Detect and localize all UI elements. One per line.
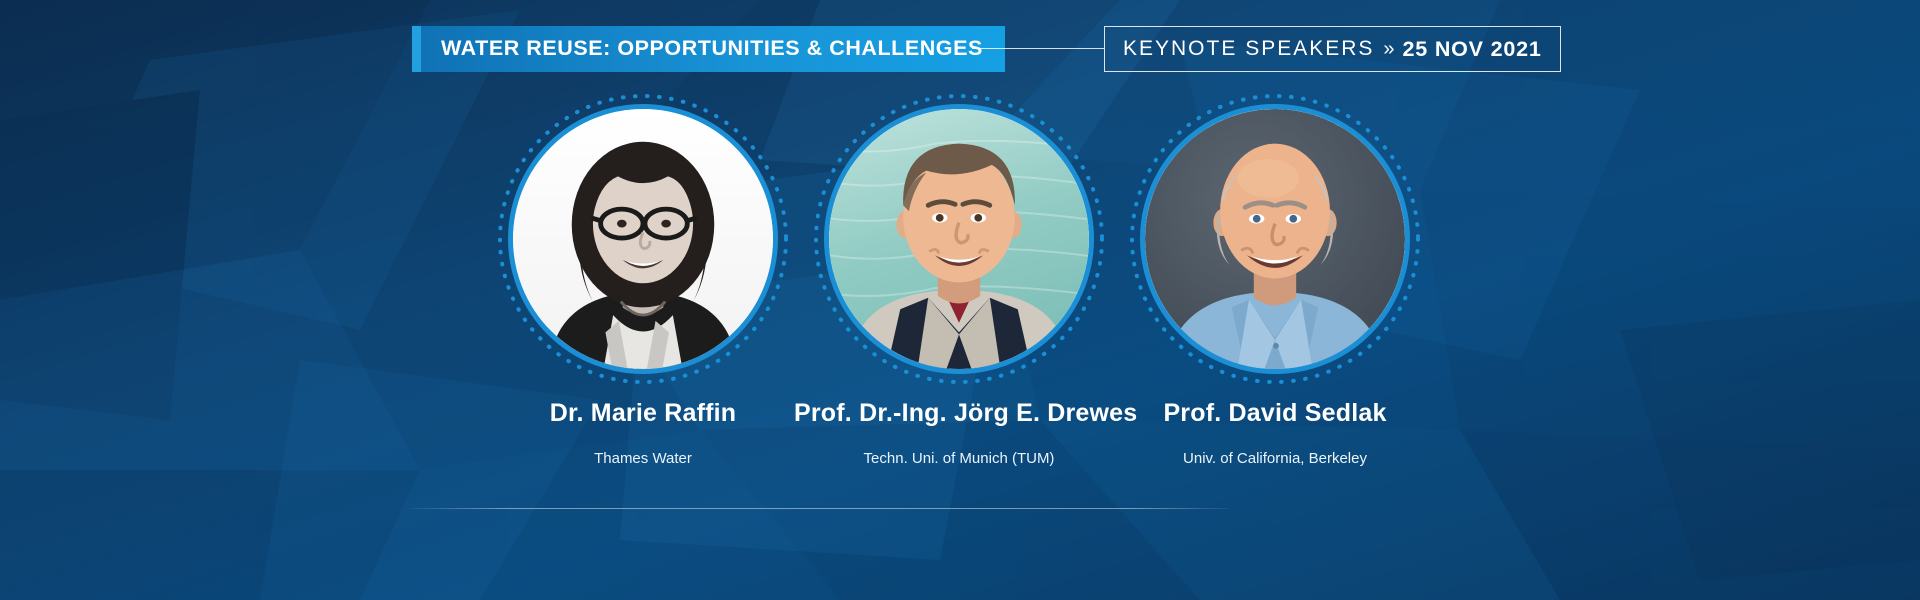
speaker-name: Prof. Dr.-Ing. Jörg E. Drewes: [794, 400, 1124, 428]
avatar: [824, 104, 1094, 374]
speaker-name: Dr. Marie Raffin: [478, 400, 808, 428]
page-title: WATER REUSE: OPPORTUNITIES & CHALLENGES: [441, 38, 983, 60]
speaker-card[interactable]: Dr. Marie Raffin Thames Water: [478, 104, 808, 467]
portrait-jorg-drewes: [824, 104, 1094, 374]
title-accent-stripe: [412, 26, 421, 72]
chevron-right-icon: »: [1383, 38, 1394, 61]
speaker-affiliation: Thames Water: [478, 450, 808, 467]
speakers-divider: [412, 508, 1228, 509]
portrait-marie-raffin: [508, 104, 778, 374]
speaker-affiliation: Univ. of California, Berkeley: [1110, 450, 1440, 467]
event-title-block: WATER REUSE: OPPORTUNITIES & CHALLENGES: [412, 26, 1005, 72]
speakers-row: Dr. Marie Raffin Thames Water: [0, 104, 1920, 544]
keynote-date-box: KEYNOTE SPEAKERS » 25 NOV 2021: [1104, 26, 1561, 72]
keynote-speakers-banner: WATER REUSE: OPPORTUNITIES & CHALLENGES …: [0, 0, 1920, 600]
avatar: [508, 104, 778, 374]
portrait-david-sedlak: [1140, 104, 1410, 374]
event-title-box: WATER REUSE: OPPORTUNITIES & CHALLENGES: [421, 26, 1005, 72]
speaker-affiliation: Techn. Uni. of Munich (TUM): [794, 450, 1124, 467]
keynote-speakers-label: KEYNOTE SPEAKERS: [1123, 37, 1374, 61]
speaker-card[interactable]: Prof. David Sedlak Univ. of California, …: [1110, 104, 1440, 467]
speaker-card[interactable]: Prof. Dr.-Ing. Jörg E. Drewes Techn. Uni…: [794, 104, 1124, 467]
header-bar: WATER REUSE: OPPORTUNITIES & CHALLENGES: [0, 26, 1920, 72]
avatar: [1140, 104, 1410, 374]
speaker-name: Prof. David Sedlak: [1110, 400, 1440, 428]
header-connector-line: [972, 48, 1104, 49]
event-date: 25 NOV 2021: [1403, 37, 1542, 62]
